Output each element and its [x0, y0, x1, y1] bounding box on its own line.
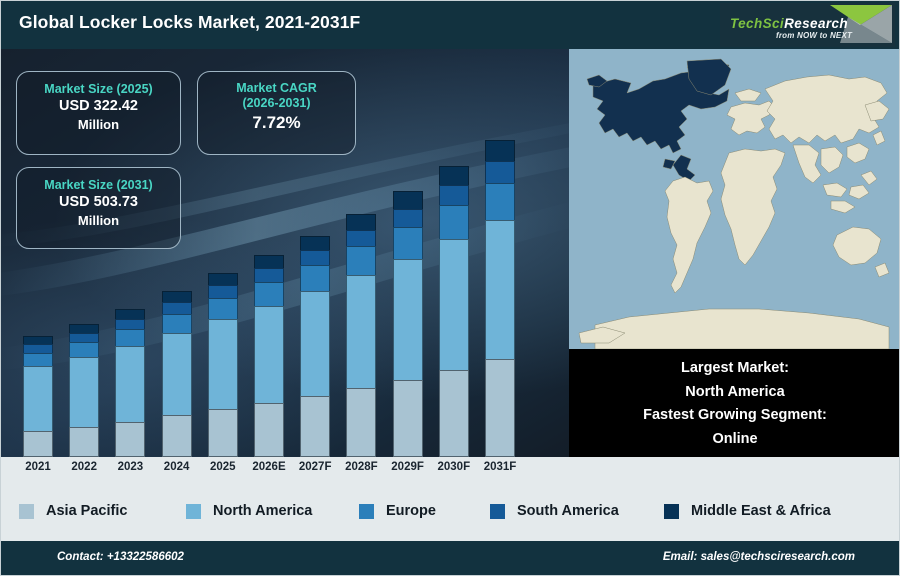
bar-segment-middle-east-africa [208, 273, 238, 285]
bar-segment-europe [69, 342, 99, 357]
bar-segment-north-america [69, 357, 99, 427]
page-title: Global Locker Locks Market, 2021-2031F [19, 12, 360, 33]
bar-segment-europe [393, 227, 423, 258]
bar-segment-north-america [162, 333, 192, 415]
bar-2027F[interactable] [300, 236, 330, 458]
legend-label: North America [213, 503, 312, 519]
footer-contact: Contact: +13322586602 [57, 551, 184, 563]
legend-label: South America [517, 503, 619, 519]
stacked-bar-chart [1, 49, 569, 457]
legend-label: Asia Pacific [46, 503, 127, 519]
bar-segment-europe [346, 246, 376, 275]
bar-segment-middle-east-africa [346, 214, 376, 230]
logo-name-part1: TechSci [730, 16, 784, 31]
bar-segment-north-america [208, 319, 238, 409]
bar-segment-south-america [393, 209, 423, 227]
bar-segment-asia-pacific [162, 415, 192, 457]
logo-tagline: from NOW to NEXT [776, 31, 852, 40]
bar-segment-north-america [23, 366, 53, 431]
infographic-root: Global Locker Locks Market, 2021-2031F T… [0, 0, 900, 576]
bar-segment-south-america [485, 161, 515, 182]
bar-segment-middle-east-africa [485, 140, 515, 161]
bar-segment-europe [115, 329, 145, 346]
legend-item-asia-pacific[interactable]: Asia Pacific [19, 503, 127, 519]
bar-segment-north-america [393, 259, 423, 380]
bar-segment-north-america [300, 291, 330, 395]
bar-segment-asia-pacific [485, 359, 515, 457]
legend-item-north-america[interactable]: North America [186, 503, 312, 519]
callout-line-4: Online [577, 428, 893, 452]
legend-swatch [186, 504, 201, 519]
bar-2024[interactable] [162, 291, 192, 457]
world-map-svg [569, 49, 900, 349]
bar-segment-europe [254, 282, 284, 306]
callout-line-2: North America [577, 381, 893, 405]
bar-2028F[interactable] [346, 214, 376, 457]
world-map [569, 49, 900, 349]
bar-segment-south-america [162, 302, 192, 313]
bar-2031F[interactable] [485, 140, 515, 457]
bar-segment-europe [208, 298, 238, 319]
chart-legend: Asia PacificNorth AmericaEuropeSouth Ame… [1, 483, 900, 541]
bar-segment-middle-east-africa [23, 336, 53, 344]
bar-segment-europe [162, 314, 192, 334]
header-bar: Global Locker Locks Market, 2021-2031F T… [1, 1, 900, 49]
bar-2030F[interactable] [439, 166, 469, 457]
bar-segment-middle-east-africa [300, 236, 330, 250]
callout-line-3: Fastest Growing Segment: [577, 404, 893, 428]
bar-segment-middle-east-africa [162, 291, 192, 302]
bar-segment-north-america [254, 306, 284, 403]
footer-email: Email: sales@techsciresearch.com [663, 551, 855, 563]
bar-2022[interactable] [69, 324, 99, 457]
bar-segment-europe [23, 353, 53, 366]
legend-item-south-america[interactable]: South America [490, 503, 619, 519]
bar-segment-middle-east-africa [439, 166, 469, 185]
bar-2023[interactable] [115, 309, 145, 457]
bar-segment-asia-pacific [254, 403, 284, 457]
bar-segment-europe [300, 265, 330, 291]
bar-segment-europe [485, 183, 515, 221]
bar-segment-south-america [115, 319, 145, 329]
bar-2021[interactable] [23, 336, 53, 457]
legend-label: Middle East & Africa [691, 503, 831, 519]
x-tick-2031F: 2031F [472, 461, 528, 473]
bar-segment-asia-pacific [208, 409, 238, 457]
bar-segment-asia-pacific [69, 427, 99, 457]
legend-swatch [19, 504, 34, 519]
bar-segment-north-america [485, 220, 515, 359]
bar-segment-asia-pacific [115, 422, 145, 457]
bar-segment-north-america [115, 346, 145, 422]
bar-segment-north-america [346, 275, 376, 388]
legend-swatch [490, 504, 505, 519]
legend-swatch [359, 504, 374, 519]
bar-segment-south-america [208, 285, 238, 298]
bar-segment-asia-pacific [300, 396, 330, 457]
legend-item-middle-east-africa[interactable]: Middle East & Africa [664, 503, 831, 519]
footer-bar: Contact: +13322586602 Email: sales@techs… [1, 541, 900, 576]
x-axis-labels: 202120222023202420252026E2027F2028F2029F… [1, 457, 569, 483]
bar-segment-europe [439, 205, 469, 240]
legend-swatch [664, 504, 679, 519]
legend-label: Europe [386, 503, 436, 519]
bar-segment-north-america [439, 239, 469, 369]
bar-segment-asia-pacific [393, 380, 423, 457]
logo-name-part2: Research [784, 16, 848, 31]
bar-2029F[interactable] [393, 191, 423, 457]
callout-line-1: Largest Market: [577, 357, 893, 381]
bar-segment-middle-east-africa [254, 255, 284, 268]
bar-segment-south-america [69, 333, 99, 342]
bar-segment-middle-east-africa [69, 324, 99, 333]
bar-2026E[interactable] [254, 255, 284, 457]
bar-segment-south-america [254, 268, 284, 282]
callout-box: Largest Market: North America Fastest Gr… [569, 349, 900, 457]
bar-segment-south-america [23, 344, 53, 352]
bar-segment-middle-east-africa [115, 309, 145, 319]
bar-segment-middle-east-africa [393, 191, 423, 209]
techsci-research-logo: TechSciResearch from NOW to NEXT [720, 3, 895, 47]
bar-segment-asia-pacific [439, 370, 469, 457]
bar-segment-south-america [439, 185, 469, 205]
logo-wordmark: TechSciResearch [730, 16, 848, 31]
bar-2025[interactable] [208, 273, 238, 457]
bar-segment-south-america [346, 230, 376, 246]
legend-item-europe[interactable]: Europe [359, 503, 436, 519]
bar-segment-asia-pacific [23, 431, 53, 457]
bar-segment-asia-pacific [346, 388, 376, 457]
bar-segment-south-america [300, 250, 330, 265]
